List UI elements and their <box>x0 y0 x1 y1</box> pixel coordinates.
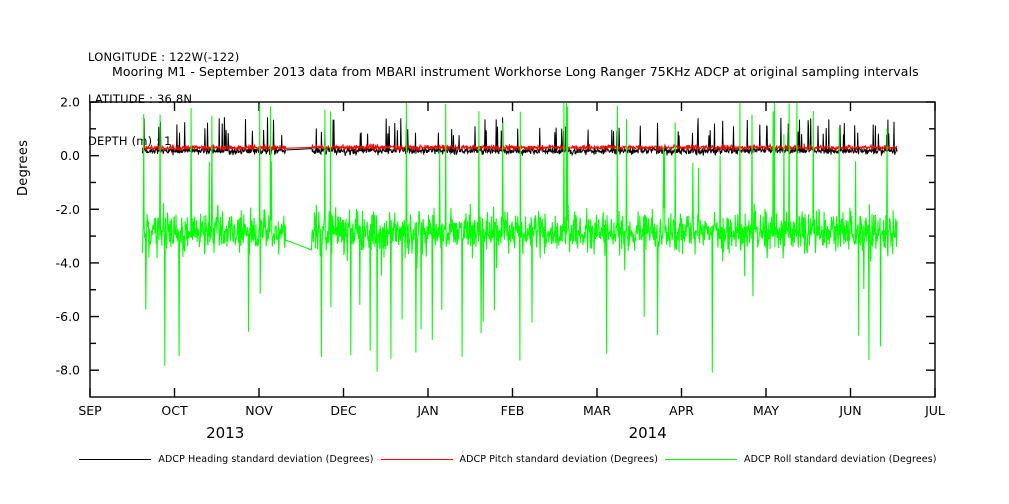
x-tick-label: FEB <box>501 403 525 418</box>
x-year-label: 2014 <box>629 424 667 440</box>
x-tick-label: NOV <box>245 403 273 418</box>
x-tick-label: MAY <box>753 403 779 418</box>
x-tick-label: APR <box>669 403 694 418</box>
x-tick-label: MAR <box>583 403 611 418</box>
y-tick-label: -4.0 <box>56 255 80 270</box>
legend-color-swatch <box>381 459 453 460</box>
y-tick-label: -6.0 <box>56 309 80 324</box>
x-tick-label: JUN <box>838 403 861 418</box>
y-tick-label: -8.0 <box>56 363 80 378</box>
chart-page: LONGITUDE : 122W(-122) LATITUDE : 36.8N … <box>0 0 1009 504</box>
chart-legend: ADCP Heading standard deviation (Degrees… <box>0 448 1009 470</box>
legend-color-swatch <box>79 459 151 460</box>
data-layer <box>142 102 897 373</box>
legend-item: ADCP Pitch standard deviation (Degrees) <box>374 454 659 465</box>
legend-color-swatch <box>665 459 737 460</box>
legend-label: ADCP Pitch standard deviation (Degrees) <box>460 454 659 465</box>
y-tick-label: 2.0 <box>60 95 80 110</box>
x-year-label: 2013 <box>206 424 244 440</box>
x-tick-label: JAN <box>416 403 438 418</box>
y-tick-label: 0.0 <box>60 148 80 163</box>
legend-item: ADCP Heading standard deviation (Degrees… <box>72 454 373 465</box>
x-tick-label: SEP <box>78 403 102 418</box>
legend-label: ADCP Roll standard deviation (Degrees) <box>744 454 937 465</box>
x-tick-label: JUL <box>924 403 945 418</box>
timeseries-plot: 2.00.0-2.0-4.0-6.0-8.0SEPOCTNOVDECJANFEB… <box>0 0 1009 440</box>
legend-label: ADCP Heading standard deviation (Degrees… <box>158 454 373 465</box>
y-tick-label: -2.0 <box>56 202 80 217</box>
x-tick-label: DEC <box>330 403 357 418</box>
series-line-roll <box>142 102 897 373</box>
x-tick-label: OCT <box>161 403 188 418</box>
legend-item: ADCP Roll standard deviation (Degrees) <box>658 454 937 465</box>
